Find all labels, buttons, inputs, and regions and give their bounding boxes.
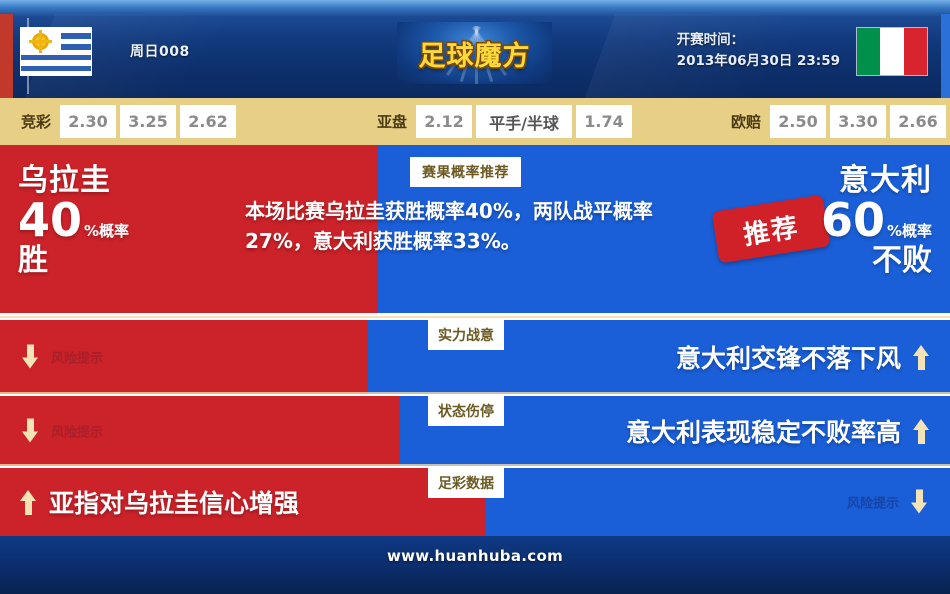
away-percent-suffix: %概率 [887, 222, 932, 240]
home-risk-note: 风险提示 [22, 345, 103, 370]
down-arrow-icon [911, 490, 928, 515]
home-risk-note: 风险提示 [22, 419, 103, 444]
footer-bar: www.huanhuba.com [0, 536, 950, 594]
away-outcome: 不败 [821, 244, 932, 277]
kickoff-time: 开赛时间： 2013年06月30日 23:59 [677, 30, 840, 72]
odds-value[interactable]: 3.25 [120, 105, 176, 138]
probability-summary: 本场比赛乌拉圭获胜概率40%，两队战平概率27%，意大利获胜概率33%。 [245, 197, 675, 256]
away-risk-note: 风险提示 [847, 490, 928, 515]
logo-text: 足球魔方 [397, 22, 552, 84]
match-prediction-infographic: 周日008 足球魔方 开赛时间： 2013年06月30日 23:59 竞彩 2.… [0, 0, 950, 594]
analysis-row: 状态伤停 风险提示 意大利表现稳定不败率高 [0, 396, 950, 466]
odds-group-yapan: 亚盘 2.12 平手/半球 1.74 [368, 105, 636, 138]
away-insight: 意大利表现稳定不败率高 [626, 413, 930, 449]
analysis-row: 足彩数据 亚指对乌拉圭信心增强 风险提示 [0, 468, 950, 536]
odds-label: 竞彩 [12, 111, 60, 132]
away-probability-block: 意大利 60%概率 不败 [821, 165, 932, 277]
away-insight-text: 意大利表现稳定不败率高 [626, 413, 901, 449]
home-percent: 40%概率 [18, 197, 129, 244]
row-badge: 状态伤停 [428, 396, 504, 426]
away-insight-text: 意大利交锋不落下风 [676, 339, 901, 375]
odds-bar: 竞彩 2.30 3.25 2.62 亚盘 2.12 平手/半球 1.74 欧赔 … [0, 98, 950, 145]
away-percent-value: 60 [821, 193, 885, 247]
analysis-row: 实力战意 风险提示 意大利交锋不落下风 [0, 320, 950, 394]
home-risk-text: 风险提示 [51, 422, 103, 441]
down-arrow-icon [22, 419, 39, 444]
odds-value[interactable]: 2.50 [770, 105, 826, 138]
home-insight-text: 亚指对乌拉圭信心增强 [49, 484, 299, 520]
odds-value[interactable]: 2.62 [180, 105, 236, 138]
kickoff-value: 2013年06月30日 23:59 [677, 51, 840, 72]
up-arrow-icon [913, 345, 930, 370]
down-arrow-icon [22, 345, 39, 370]
away-risk-text: 风险提示 [847, 493, 899, 512]
probability-panel: 乌拉圭 40%概率 胜 赛果概率推荐 本场比赛乌拉圭获胜概率40%，两队战平概率… [0, 145, 950, 313]
header-bar: 周日008 足球魔方 开赛时间： 2013年06月30日 23:59 [0, 0, 950, 98]
uruguay-sun-icon [32, 33, 49, 50]
odds-value[interactable]: 1.74 [576, 105, 632, 138]
match-number: 周日008 [130, 41, 190, 61]
home-percent-suffix: %概率 [84, 222, 129, 240]
odds-value[interactable]: 2.66 [890, 105, 946, 138]
away-insight: 意大利交锋不落下风 [676, 339, 930, 375]
odds-group-jingcai: 竞彩 2.30 3.25 2.62 [12, 105, 240, 138]
kickoff-label: 开赛时间： [677, 30, 840, 51]
away-percent: 60%概率 [821, 197, 932, 244]
odds-value[interactable]: 2.30 [60, 105, 116, 138]
odds-label: 欧赔 [722, 111, 770, 132]
home-probability-block: 乌拉圭 40%概率 胜 [18, 165, 129, 277]
row-badge: 足彩数据 [428, 468, 504, 498]
site-url[interactable]: www.huanhuba.com [387, 547, 563, 565]
header-red-accent [0, 14, 13, 98]
row-badge: 实力战意 [428, 320, 504, 350]
up-arrow-icon [913, 419, 930, 444]
handicap-value[interactable]: 平手/半球 [476, 105, 572, 138]
home-percent-value: 40 [18, 193, 82, 247]
site-logo: 足球魔方 [397, 22, 552, 84]
italy-flag [856, 27, 928, 76]
home-insight: 亚指对乌拉圭信心增强 [20, 484, 299, 520]
odds-group-oupei: 欧赔 2.50 3.30 2.66 [722, 105, 950, 138]
odds-value[interactable]: 3.30 [830, 105, 886, 138]
home-outcome: 胜 [18, 244, 129, 277]
panel-badge: 赛果概率推荐 [410, 157, 521, 187]
header-blue-accent [941, 14, 950, 98]
up-arrow-icon [20, 490, 37, 515]
odds-label: 亚盘 [368, 111, 416, 132]
uruguay-flag [20, 27, 92, 76]
home-risk-text: 风险提示 [51, 348, 103, 367]
odds-value[interactable]: 2.12 [416, 105, 472, 138]
